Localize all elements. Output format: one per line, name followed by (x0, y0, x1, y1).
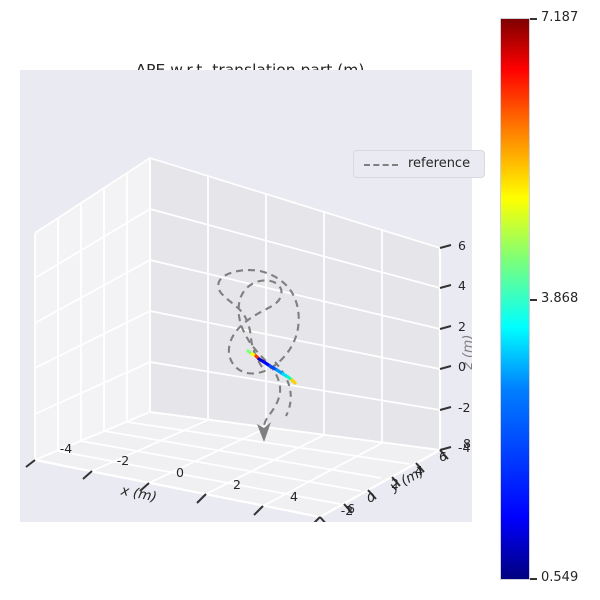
z-axis-label: z (m) (460, 334, 472, 370)
legend-label-reference: reference (408, 156, 470, 171)
x-ticklabel: 0 (176, 465, 184, 480)
colorbar-tick-min (530, 578, 537, 580)
axes-3d-svg: -4 -2 0 2 4 6 -2 0 2 4 6 8 6 4 2 0 (20, 70, 472, 522)
x-ticklabel: 4 (290, 489, 298, 504)
z-ticklabel: -2 (458, 400, 470, 415)
colorbar-ticklabel-max: 7.187 (541, 10, 578, 25)
y-ticklabel: 6 (439, 449, 447, 464)
z-ticklabel: -4 (458, 440, 471, 455)
colorbar-gradient (500, 18, 530, 580)
legend-line-sample-reference (364, 164, 398, 166)
pane-back-wall (150, 158, 440, 450)
legend-box[interactable]: reference (353, 150, 485, 178)
x-axis-label: x (m) (119, 482, 158, 505)
colorbar-ticklabel-min: 0.549 (541, 570, 578, 585)
y-ticklabel: -2 (341, 503, 353, 518)
x-ticklabel: -2 (117, 453, 129, 468)
x-ticklabel: 2 (233, 477, 241, 492)
z-ticklabel: 6 (458, 238, 466, 253)
pane-left-wall (35, 158, 150, 460)
z-ticklabel: 4 (458, 278, 466, 293)
plot-axes-3d: -4 -2 0 2 4 6 -2 0 2 4 6 8 6 4 2 0 (20, 70, 472, 522)
colorbar-tick-max (530, 18, 537, 20)
z-axis-ticks (440, 245, 451, 450)
x-ticklabel: -4 (60, 441, 73, 456)
colorbar-ticklabel-mid: 3.868 (541, 291, 578, 306)
z-ticklabel: 2 (458, 319, 466, 334)
colorbar-tick-mid (530, 299, 537, 301)
y-ticklabel: 0 (367, 490, 375, 505)
colorbar: 7.187 3.868 0.549 (500, 18, 530, 580)
figure-canvas: APE w.r.t. translation part (m) (with Si… (0, 0, 600, 600)
